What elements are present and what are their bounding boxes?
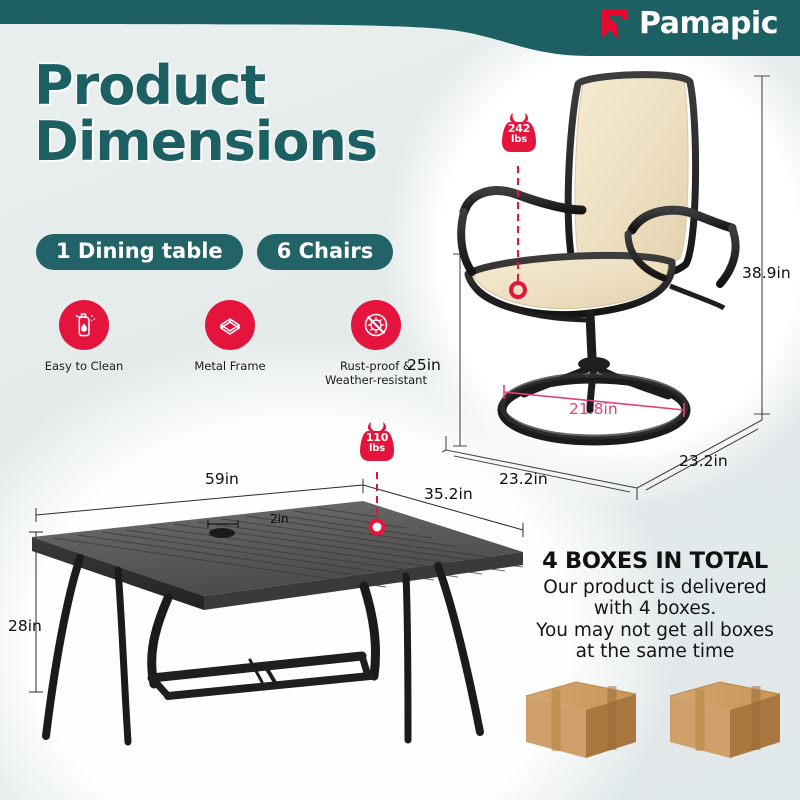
- feature-badge: [59, 300, 109, 350]
- weight-value-block: 110 lbs: [356, 432, 398, 454]
- metal-layers-icon: [216, 311, 244, 339]
- spray-bottle-icon: [70, 311, 98, 339]
- feature-list: Easy to Clean Metal Frame: [28, 300, 432, 388]
- table-weight-tag: 110 lbs: [356, 415, 398, 463]
- feature-rust-proof: Rust-proof & Weather-resistant: [320, 300, 432, 388]
- chair-base-diameter-label: 21.8in: [569, 400, 618, 418]
- chair-seat-height-label: 25in: [407, 356, 441, 374]
- umbrella-hole-label: 2in: [270, 512, 289, 526]
- brand-name: Pamapic: [639, 9, 778, 39]
- feature-label: Metal Frame: [194, 359, 265, 373]
- box-item: [526, 682, 636, 758]
- weight-unit: lbs: [356, 443, 398, 454]
- feature-badge: [205, 300, 255, 350]
- box-item: [670, 682, 780, 758]
- table-length-label: 59in: [205, 470, 239, 488]
- rust-proof-icon: [362, 311, 390, 339]
- title-line-1: Product: [34, 58, 377, 114]
- feature-easy-to-clean: Easy to Clean: [28, 300, 140, 388]
- chair-weight-tag: 242 lbs: [498, 106, 540, 154]
- boxes-title: 4 BOXES IN TOTAL: [512, 548, 798, 574]
- pamapic-logo-icon: [600, 8, 630, 39]
- boxes-description: Our product is delivered with 4 boxes. Y…: [512, 577, 798, 663]
- chair-depth-label: 23.2in: [679, 452, 728, 470]
- brand-logo: Pamapic: [600, 8, 778, 39]
- pill-dining-table: 1 Dining table: [36, 234, 243, 270]
- weight-unit: lbs: [498, 134, 540, 145]
- boxes-panel: 4 BOXES IN TOTAL Our product is delivere…: [512, 548, 798, 663]
- table-depth-label: 35.2in: [424, 485, 473, 503]
- feature-label: Easy to Clean: [45, 359, 124, 373]
- title-line-2: Dimensions: [34, 114, 377, 170]
- feature-badge: [351, 300, 401, 350]
- contents-pills: 1 Dining table 6 Chairs: [36, 234, 393, 270]
- feature-metal-frame: Metal Frame: [174, 300, 286, 388]
- infographic-canvas: Pamapic Product Dimensions 1 Dining tabl…: [0, 0, 800, 800]
- pill-chairs: 6 Chairs: [257, 234, 394, 270]
- page-title: Product Dimensions: [34, 58, 377, 170]
- table-height-label: 28in: [8, 617, 42, 635]
- chair-height-label: 38.9in: [742, 264, 791, 282]
- boxes-illustration: [520, 672, 790, 767]
- weight-value-block: 242 lbs: [498, 123, 540, 145]
